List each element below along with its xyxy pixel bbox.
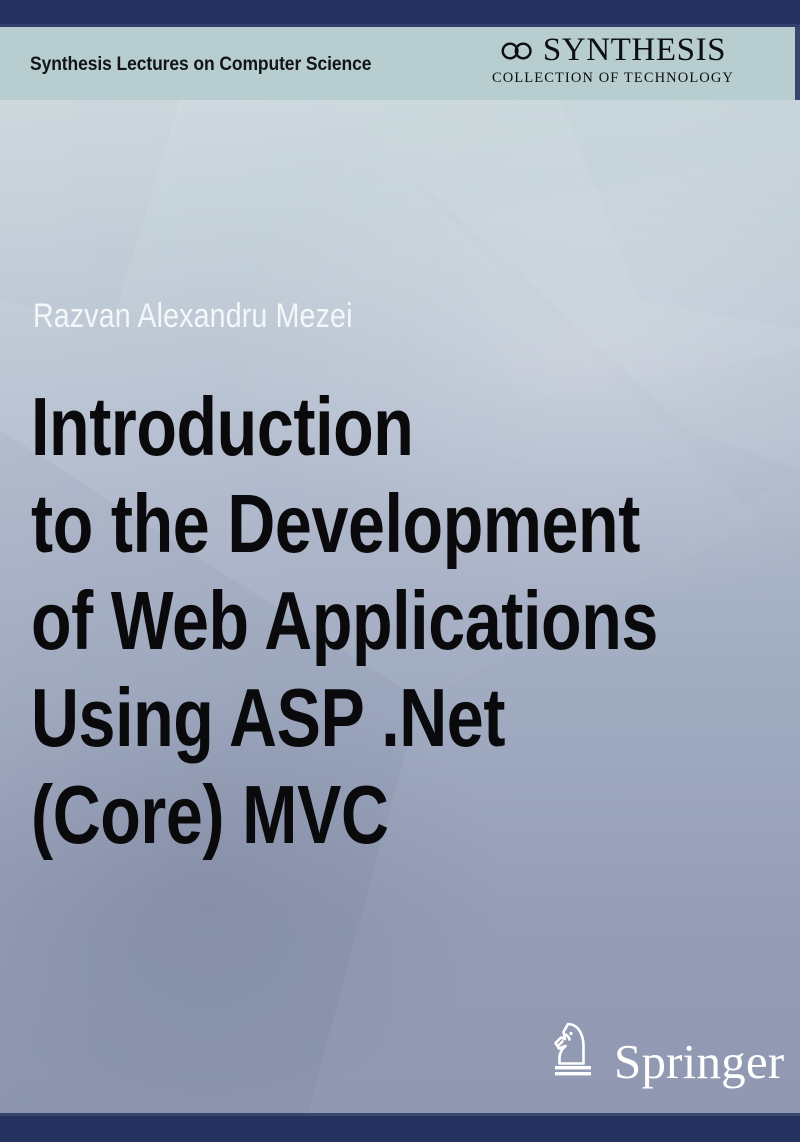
synthesis-wordmark: SYNTHESIS <box>543 34 726 67</box>
publisher-name: Springer <box>614 1039 784 1086</box>
title-line-5: (Core) MVC <box>31 766 639 863</box>
synthesis-logo: SYNTHESIS COLLECTION OF TECHNOLOGY <box>492 34 734 87</box>
synthesis-subtitle: COLLECTION OF TECHNOLOGY <box>492 70 734 87</box>
author-name: Razvan Alexandru Mezei <box>33 297 353 336</box>
bottom-navy-band <box>0 1116 800 1142</box>
title-line-1: Introduction <box>31 378 639 475</box>
top-navy-band <box>0 0 800 24</box>
title-line-2: to the Development <box>31 475 639 572</box>
knight-chess-piece-icon <box>546 1020 600 1082</box>
synthesis-logo-row: SYNTHESIS <box>492 34 734 67</box>
title-line-3: of Web Applications <box>31 572 639 669</box>
infinity-icon <box>500 41 534 61</box>
book-cover: Synthesis Lectures on Computer Science S… <box>0 0 800 1142</box>
publisher-logo: Springer <box>546 1020 784 1082</box>
series-title: Synthesis Lectures on Computer Science <box>30 54 371 76</box>
title-line-4: Using ASP .Net <box>31 669 639 766</box>
book-title: Introduction to the Development of Web A… <box>31 378 791 863</box>
series-band-right-edge <box>795 27 800 100</box>
